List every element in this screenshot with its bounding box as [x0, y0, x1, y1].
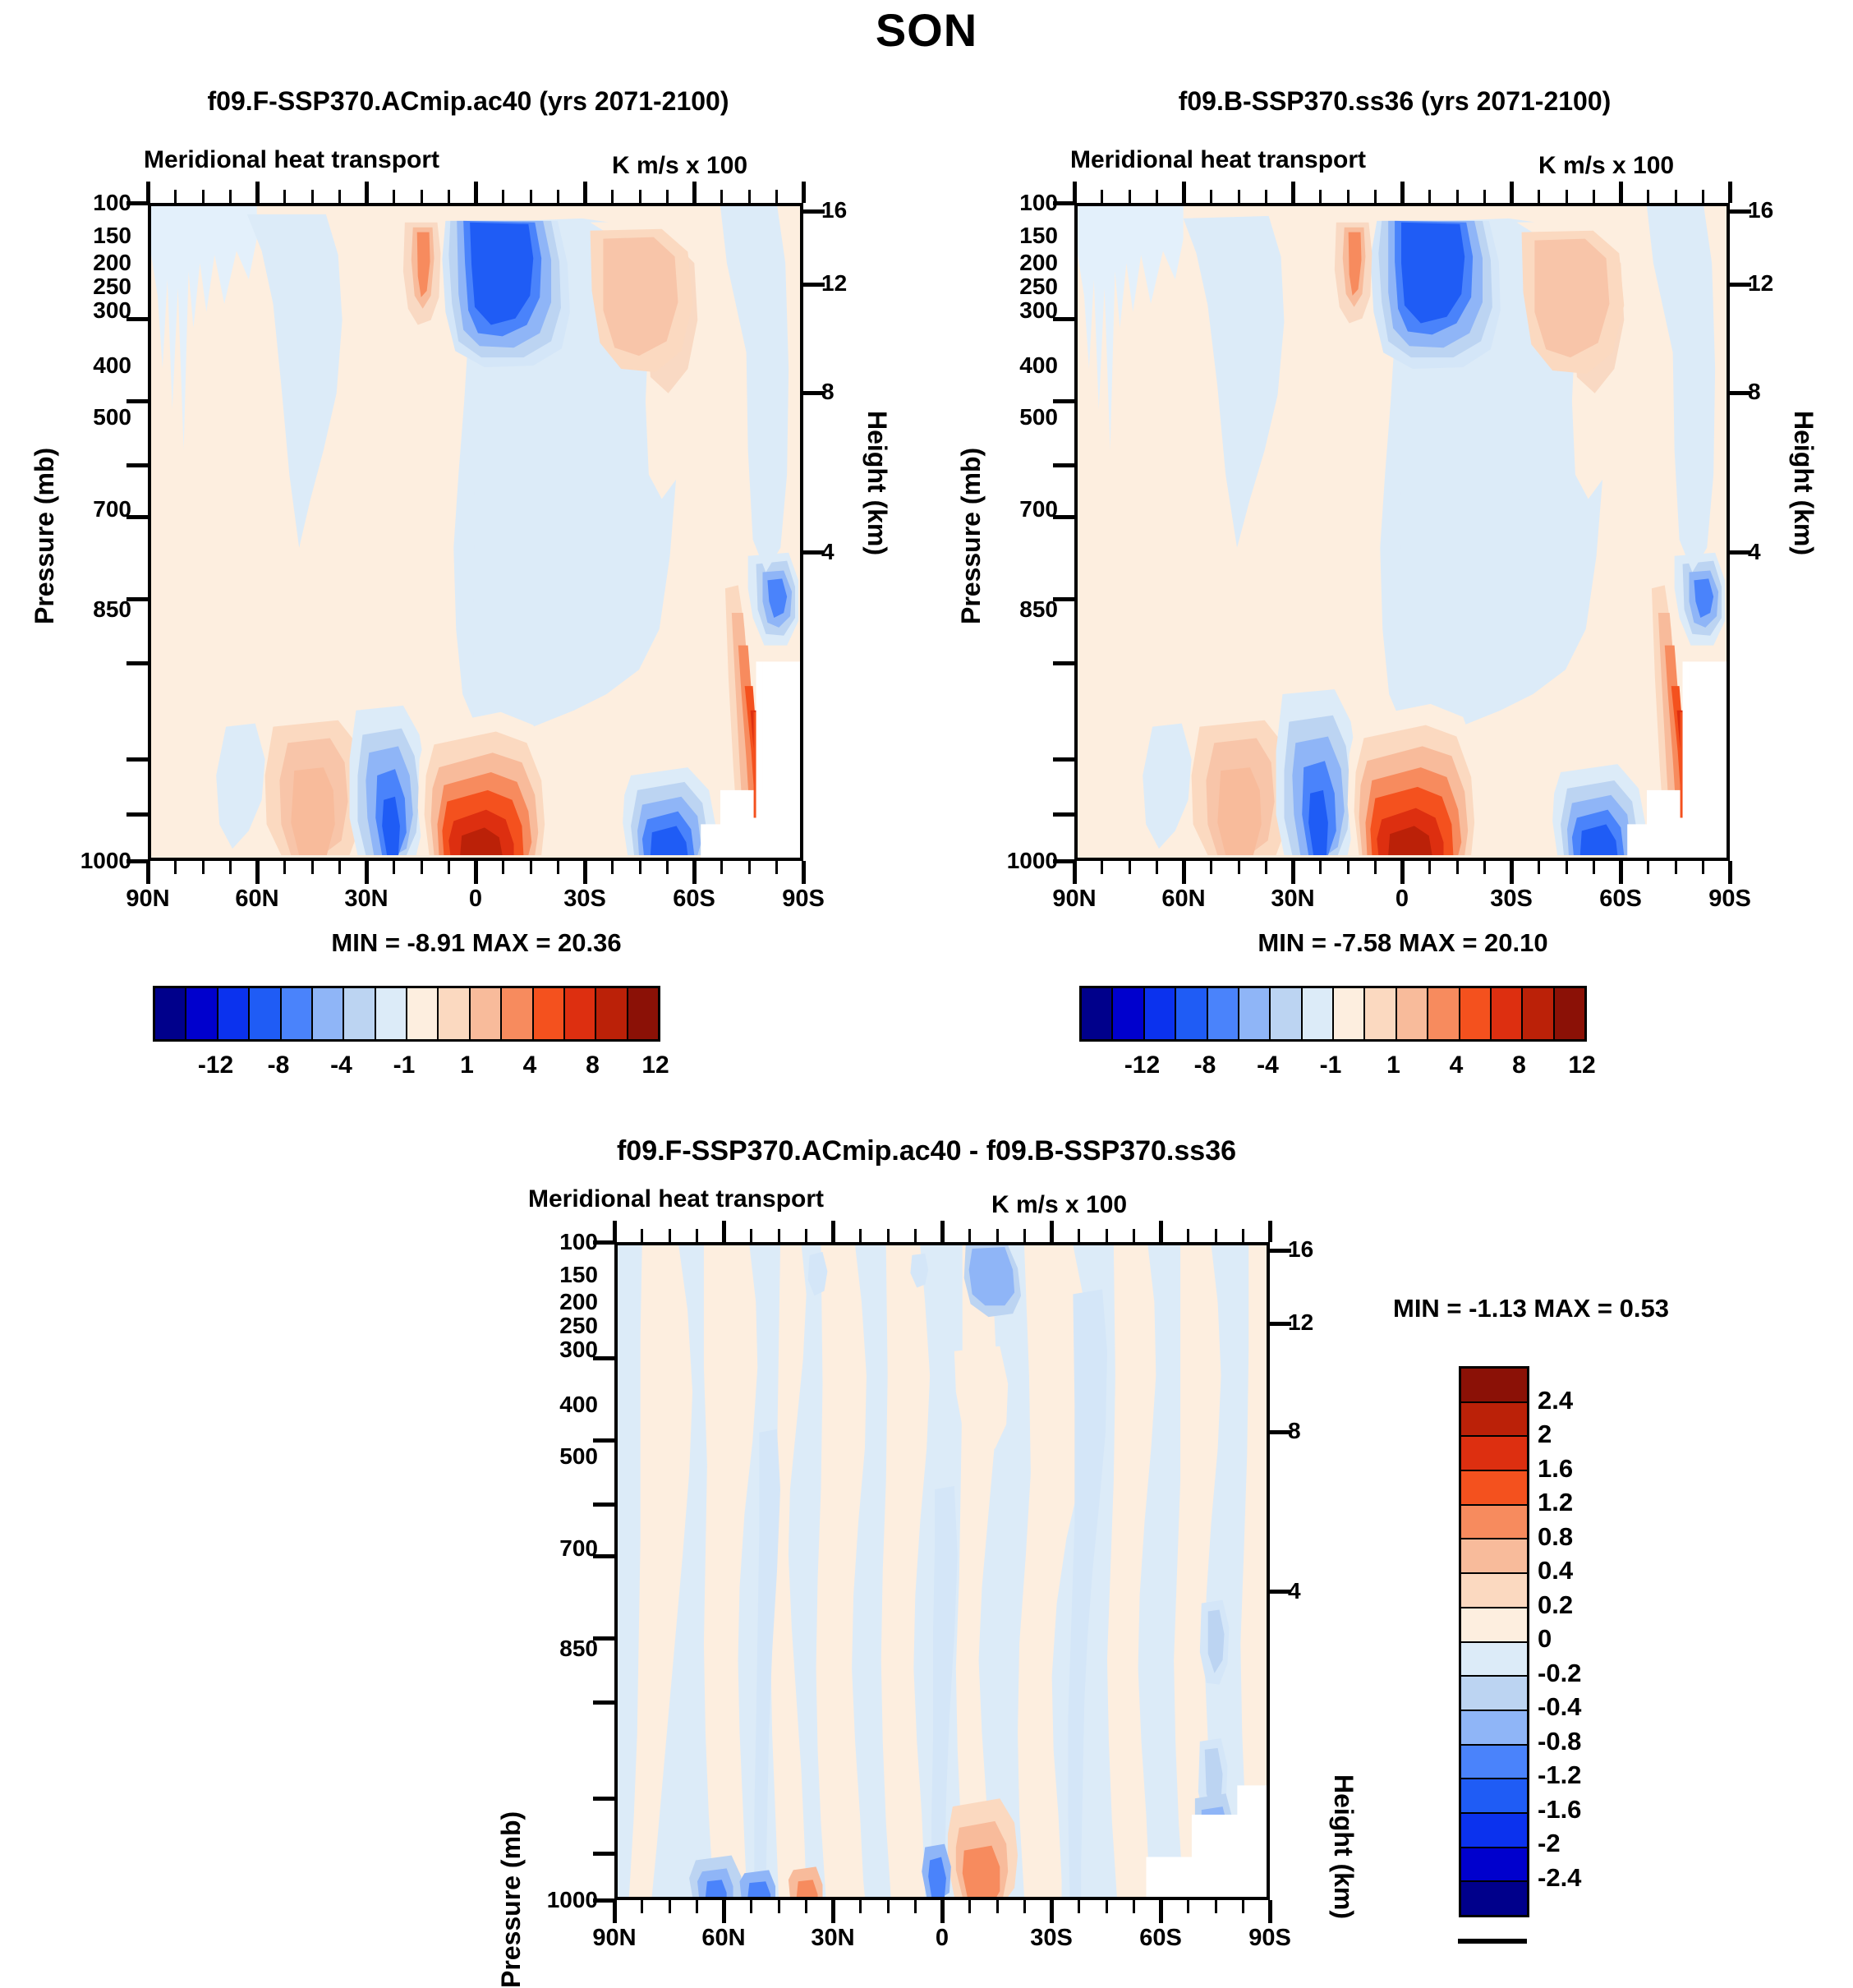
minmax-bottom-diff: MIN = -1.13 MAX = 0.53 — [1393, 1294, 1669, 1323]
colorbar-cell — [282, 988, 313, 1039]
colorbar-labels-top-left: -12 -8 -4 -1 1 4 8 12 — [153, 1052, 655, 1084]
colorbar-cell — [1461, 1608, 1527, 1643]
colorbar-cell — [1397, 988, 1428, 1039]
colorbar-cell — [1523, 988, 1554, 1039]
colorbar-cell — [1492, 988, 1523, 1039]
variable-label-top-left: Meridional heat transport — [144, 146, 439, 174]
plot-area-bottom-diff — [614, 1242, 1270, 1900]
colorbar-cell — [1365, 988, 1396, 1039]
colorbar-cell — [1555, 988, 1584, 1039]
minmax-top-left: MIN = -8.91 MAX = 20.36 — [331, 928, 621, 958]
colorbar-cell — [628, 988, 658, 1039]
colorbar-cell — [596, 988, 628, 1039]
minmax-top-right: MIN = -7.58 MAX = 20.10 — [1258, 928, 1547, 958]
colorbar-cell — [186, 988, 218, 1039]
colorbar-cell — [1113, 988, 1144, 1039]
colorbar-cell — [534, 988, 565, 1039]
colorbar-cell — [376, 988, 407, 1039]
y2-axis-title-height-bottom-diff: Height (km) — [1328, 1774, 1359, 1919]
colorbar-cell — [1239, 988, 1271, 1039]
units-label-top-right: K m/s x 100 — [1538, 152, 1674, 180]
y2-axis-title-height-top-right: Height (km) — [1788, 411, 1819, 555]
colorbar-cell — [1461, 1403, 1527, 1438]
colorbar-cell — [1461, 1471, 1527, 1506]
colorbar-diff-labels: 2.4 2 1.6 1.2 0.8 0.4 0.2 0 -0.2 -0.4 -0… — [1538, 1366, 1661, 1912]
colorbar-diff-vertical — [1459, 1366, 1529, 1917]
panel-title-top-left: f09.F-SSP370.ACmip.ac40 (yrs 2071-2100) — [57, 86, 879, 117]
colorbar-cell — [1461, 1437, 1527, 1471]
colorbar-labels-top-right: -12 -8 -4 -1 1 4 8 12 — [1079, 1052, 1582, 1084]
colorbar-cell — [565, 988, 596, 1039]
colorbar-cell — [1428, 988, 1460, 1039]
colorbar-cell — [1461, 1677, 1527, 1711]
colorbar-cell — [1334, 988, 1365, 1039]
colorbar-cell — [1145, 988, 1176, 1039]
contour-field-top-right — [1078, 206, 1727, 858]
colorbar-top-left — [153, 986, 660, 1042]
panel-title-bottom-diff: f09.F-SSP370.ACmip.ac40 - f09.B-SSP370.s… — [434, 1135, 1419, 1167]
colorbar-cell — [1461, 1369, 1527, 1403]
variable-label-bottom-diff: Meridional heat transport — [528, 1185, 824, 1213]
colorbar-cell — [1461, 1746, 1527, 1780]
colorbar-cell — [407, 988, 439, 1039]
colorbar-cell — [1461, 1848, 1527, 1883]
colorbar-cell — [218, 988, 250, 1039]
colorbar-cell — [1461, 1814, 1527, 1848]
colorbar-cell — [1461, 1574, 1527, 1608]
colorbar-bottom-diff — [1458, 1939, 1527, 1944]
panel-top-left: f09.F-SSP370.ACmip.ac40 (yrs 2071-2100) … — [0, 0, 926, 1117]
colorbar-cell — [1461, 1643, 1527, 1677]
contour-field-top-left — [151, 206, 800, 858]
colorbar-cell — [313, 988, 344, 1039]
colorbar-cell — [1176, 988, 1207, 1039]
colorbar-cell — [250, 988, 281, 1039]
colorbar-cell — [155, 988, 186, 1039]
units-label-bottom-diff: K m/s x 100 — [991, 1191, 1127, 1219]
colorbar-cell — [471, 988, 502, 1039]
contour-field-bottom-diff — [618, 1245, 1267, 1897]
colorbar-top-right — [1079, 986, 1587, 1042]
colorbar-cell — [1208, 988, 1239, 1039]
colorbar-cell — [344, 988, 375, 1039]
colorbar-cell — [1271, 988, 1302, 1039]
y2-axis-title-height-top-left: Height (km) — [862, 411, 892, 555]
units-label-top-left: K m/s x 100 — [612, 152, 747, 180]
variable-label-top-right: Meridional heat transport — [1070, 146, 1366, 174]
colorbar-cell — [1461, 1711, 1527, 1746]
plot-area-top-left — [148, 203, 803, 861]
colorbar-cell — [1460, 988, 1492, 1039]
colorbar-cell — [1461, 1882, 1527, 1915]
colorbar-cell — [502, 988, 533, 1039]
colorbar-cell — [1461, 1779, 1527, 1814]
panel-top-right: f09.B-SSP370.ss36 (yrs 2071-2100) Meridi… — [926, 0, 1853, 1117]
colorbar-cell — [439, 988, 470, 1039]
colorbar-cell — [1303, 988, 1334, 1039]
colorbar-cell — [1461, 1539, 1527, 1574]
colorbar-cell — [1082, 988, 1113, 1039]
plot-area-top-right — [1074, 203, 1730, 861]
colorbar-cell — [1461, 1506, 1527, 1540]
panel-title-top-right: f09.B-SSP370.ss36 (yrs 2071-2100) — [984, 86, 1805, 117]
